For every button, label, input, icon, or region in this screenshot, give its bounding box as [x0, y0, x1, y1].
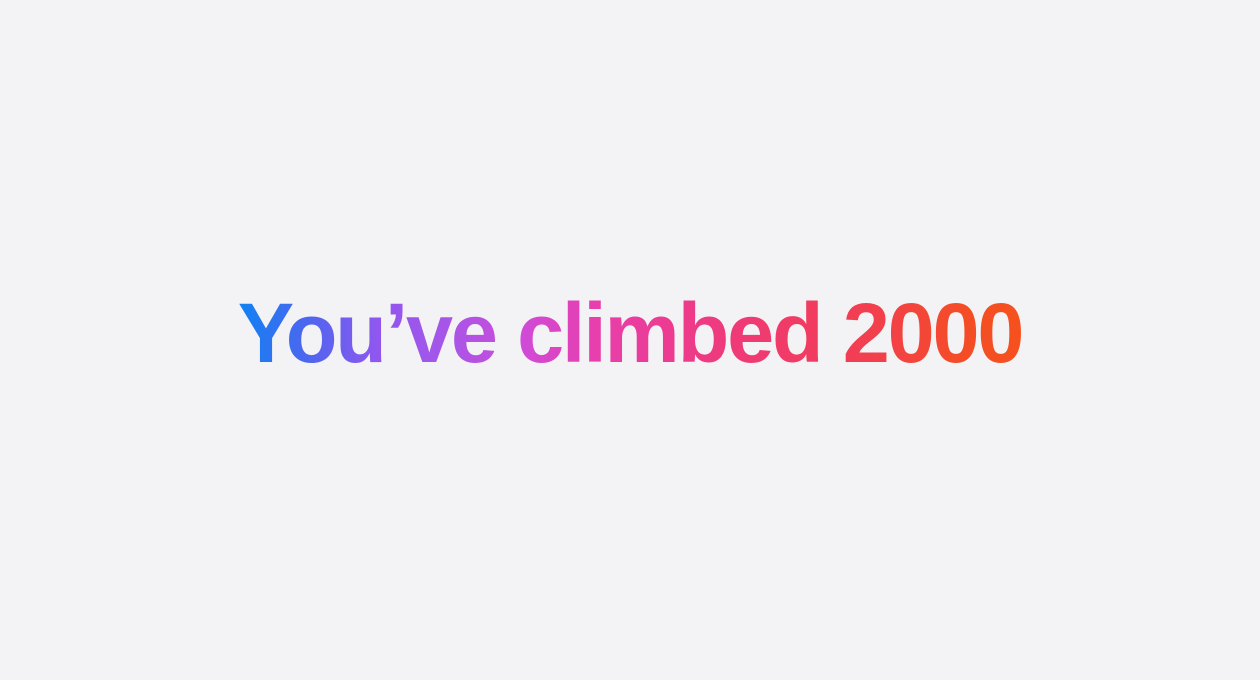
achievement-headline: You’ve climbed 2000 feet of elevation!: [232, 291, 1028, 390]
achievement-screen: You’ve climbed 2000 feet of elevation!: [0, 0, 1260, 680]
headline-line-1: You’ve climbed 2000: [238, 291, 1022, 376]
